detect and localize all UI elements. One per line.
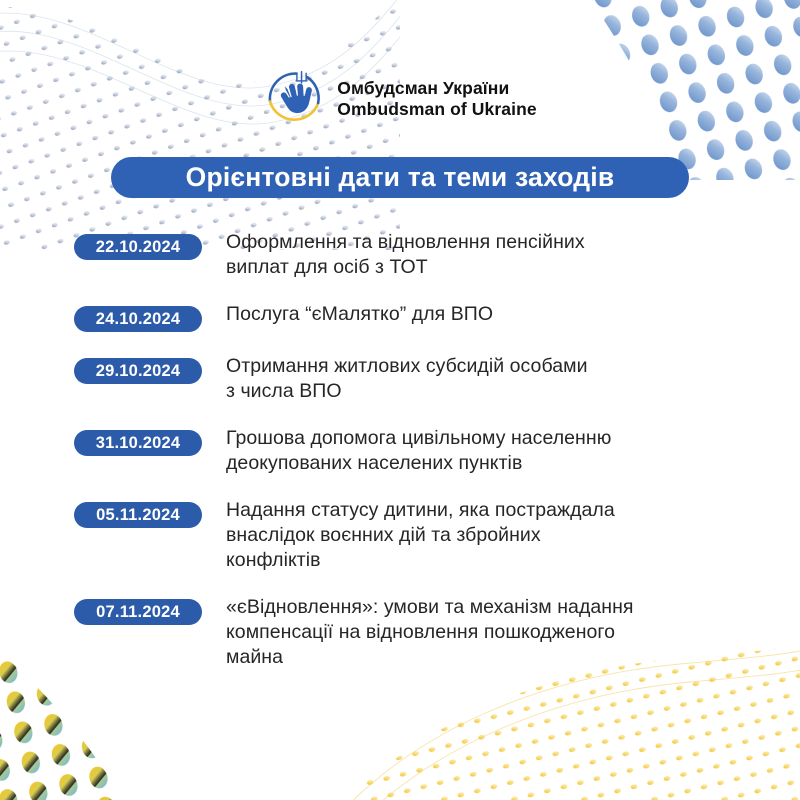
logo-wordmark: Омбудсман України Ombudsman of Ukraine [337,78,536,119]
event-date-badge: 05.11.2024 [74,502,202,528]
event-topic-text: Отримання житлових субсидій особами з чи… [226,354,734,404]
page-title: Орієнтовні дати та теми заходів [186,164,615,191]
event-row: 24.10.2024 Послуга “єМалятко” для ВПО [74,302,734,332]
event-topic-text: Надання статусу дитини, яка постраждала … [226,498,734,573]
logo-line-en: Ombudsman of Ukraine [337,99,536,120]
event-date-badge: 07.11.2024 [74,599,202,625]
logo-line-uk: Омбудсман України [337,78,536,99]
event-date-badge: 24.10.2024 [74,306,202,332]
event-row: 22.10.2024 Оформлення та відновлення пен… [74,230,734,280]
event-row: 05.11.2024 Надання статусу дитини, яка п… [74,498,734,573]
event-row: 07.11.2024 «єВідновлення»: умови та меха… [74,595,734,670]
event-row: 29.10.2024 Отримання житлових субсидій о… [74,354,734,404]
events-list: 22.10.2024 Оформлення та відновлення пен… [74,230,734,670]
event-topic-text: Грошова допомога цивільному населенню де… [226,426,734,476]
event-date-badge: 22.10.2024 [74,234,202,260]
event-topic-text: Послуга “єМалятко” для ВПО [226,302,734,327]
event-topic-text: Оформлення та відновлення пенсійних випл… [226,230,734,280]
ombudsman-hand-trident-emblem-icon [263,68,325,130]
event-row: 31.10.2024 Грошова допомога цивільному н… [74,426,734,476]
poster-canvas: Омбудсман України Ombudsman of Ukraine О… [0,0,800,800]
ombudsman-logo: Омбудсман України Ombudsman of Ukraine [0,68,800,130]
page-title-banner: Орієнтовні дати та теми заходів [111,157,689,198]
event-date-badge: 29.10.2024 [74,358,202,384]
event-topic-text: «єВідновлення»: умови та механізм наданн… [226,595,734,670]
event-date-badge: 31.10.2024 [74,430,202,456]
